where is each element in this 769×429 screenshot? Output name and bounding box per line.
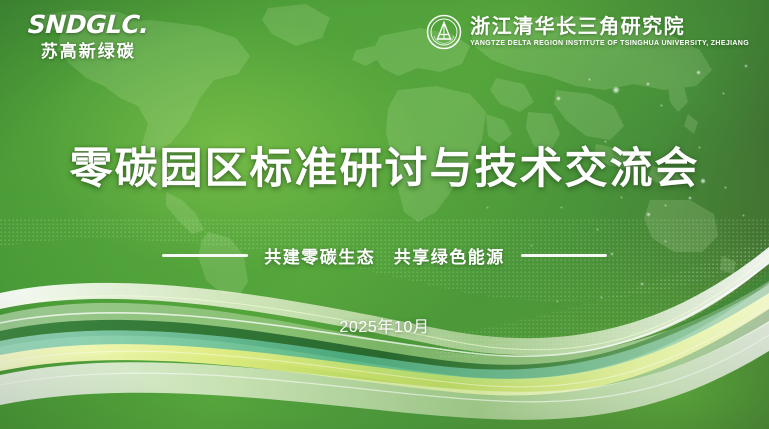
subtitle-row: 共建零碳生态 共享绿色能源 — [0, 243, 769, 268]
sndglc-chinese-name: 苏高新绿碳 — [28, 43, 148, 60]
sndglc-wordmark: SNDGLC. — [27, 12, 149, 37]
institute-chinese-name: 浙江清华长三角研究院 — [470, 17, 749, 38]
tsinghua-institute-seal-icon — [426, 14, 462, 50]
page-subtitle: 共建零碳生态 共享绿色能源 — [264, 243, 505, 268]
decorative-rule-right — [521, 254, 607, 257]
event-date: 2025年10月 — [0, 313, 769, 337]
tsinghua-institute-logo: 浙江清华长三角研究院 YANGTZE DELTA REGION INSTITUT… — [426, 14, 749, 50]
bokeh-particles — [0, 0, 769, 429]
edge-vignette — [0, 0, 769, 429]
decorative-rule-left — [162, 254, 248, 257]
institute-english-name: YANGTZE DELTA REGION INSTITUTE OF TSINGH… — [470, 40, 749, 48]
page-title: 零碳园区标准研讨与技术交流会 — [0, 145, 769, 194]
conference-banner: SNDGLC. 苏高新绿碳 浙江清华长三角研究院 YANGTZE DELTA R… — [0, 0, 769, 429]
sndglc-logo: SNDGLC. 苏高新绿碳 — [28, 12, 148, 60]
